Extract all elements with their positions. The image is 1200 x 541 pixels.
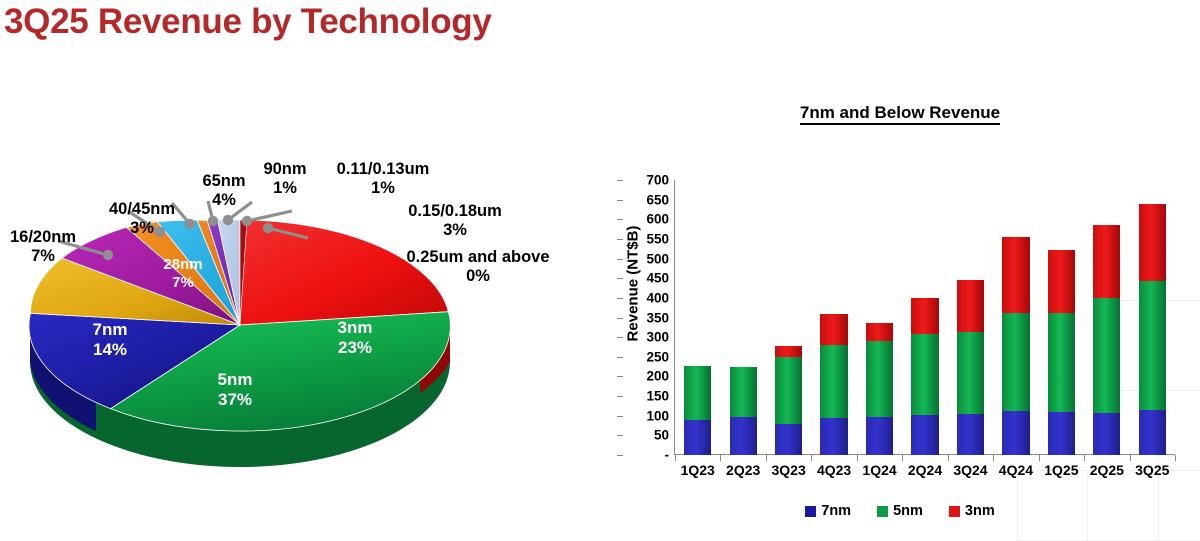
y-tick-mark <box>617 219 623 220</box>
x-tick-mark <box>1175 455 1176 461</box>
y-tick-label: 450 <box>646 271 669 286</box>
bar-segment-3nm <box>866 323 893 341</box>
x-tick-label: 2Q23 <box>726 462 760 478</box>
bar-segment-7nm <box>1048 412 1075 455</box>
y-tick-mark <box>617 278 623 279</box>
bar-segment-5nm <box>1139 281 1166 409</box>
y-tick-mark <box>617 298 623 299</box>
bar-segment-7nm <box>1139 410 1166 455</box>
bar-segment-3nm <box>820 314 847 345</box>
legend-item-3nm[interactable]: 3nm <box>949 503 995 519</box>
legend-item-5nm[interactable]: 5nm <box>877 503 923 519</box>
y-tick-mark <box>617 357 623 358</box>
y-tick-mark <box>617 416 623 417</box>
bar-segment-3nm <box>775 346 802 357</box>
y-tick-mark <box>617 376 623 377</box>
x-tick-mark <box>675 455 676 461</box>
x-tick-label: 2Q25 <box>1090 462 1124 478</box>
x-tick-label: 1Q24 <box>862 462 896 478</box>
x-tick-label: 3Q23 <box>772 462 806 478</box>
y-tick-mark <box>617 259 623 260</box>
bar-chart-plot-area: 7006506005505004504003503002502001501005… <box>675 180 1175 455</box>
legend-label: 5nm <box>893 503 923 519</box>
bar-column-2q25[interactable] <box>1093 225 1120 455</box>
x-tick-mark <box>1084 455 1085 461</box>
bar-column-4q24[interactable] <box>1002 237 1029 455</box>
x-tick-mark <box>766 455 767 461</box>
bar-segment-7nm <box>1002 411 1029 455</box>
bar-segment-5nm <box>1002 313 1029 411</box>
y-tick-label: 500 <box>646 251 669 266</box>
pie-callout-015-018um: 0.15/0.18um 3% <box>380 202 530 240</box>
x-tick-label: 1Q23 <box>681 462 715 478</box>
bar-segment-7nm <box>684 420 711 455</box>
bar-segment-3nm <box>957 280 984 332</box>
y-tick-label: 600 <box>646 212 669 227</box>
bar-segment-5nm <box>1093 298 1120 413</box>
x-tick-label: 4Q23 <box>817 462 851 478</box>
bar-column-1q23[interactable] <box>684 366 711 455</box>
legend-label: 7nm <box>821 503 851 519</box>
x-tick-mark <box>1039 455 1040 461</box>
y-tick-label: - <box>665 448 670 463</box>
pie-label-7nm: 7nm 14% <box>60 320 160 360</box>
y-tick-label: 650 <box>646 192 669 207</box>
y-tick-mark <box>617 396 623 397</box>
bar-segment-3nm <box>1093 225 1120 298</box>
bar-segment-5nm <box>1048 313 1075 412</box>
bar-column-1q25[interactable] <box>1048 250 1075 455</box>
x-tick-mark <box>902 455 903 461</box>
x-tick-label: 3Q24 <box>953 462 987 478</box>
bar-chart-title-text: 7nm and Below Revenue <box>800 103 1000 125</box>
bar-segment-3nm <box>1139 204 1166 282</box>
bar-segment-5nm <box>820 345 847 418</box>
bar-segment-3nm <box>911 298 938 335</box>
y-tick-label: 700 <box>646 173 669 188</box>
x-tick-mark <box>811 455 812 461</box>
bar-segment-3nm <box>1002 237 1029 313</box>
bar-segment-7nm <box>957 414 984 455</box>
x-tick-label: 3Q25 <box>1135 462 1169 478</box>
y-tick-label: 550 <box>646 231 669 246</box>
pie-chart-panel: 3nm 23% 5nm 37% 7nm 14% 28nm 7% 16/20nm … <box>0 140 600 500</box>
y-axis-line <box>674 180 675 455</box>
x-tick-label: 4Q24 <box>999 462 1033 478</box>
y-tick-label: 300 <box>646 330 669 345</box>
bar-segment-7nm <box>911 415 938 455</box>
bar-column-2q24[interactable] <box>911 298 938 455</box>
y-axis-ticks: 7006506005505004504003503002502001501005… <box>623 180 669 455</box>
bar-segment-7nm <box>730 417 757 456</box>
bar-segment-3nm <box>1048 250 1075 313</box>
x-tick-label: 2Q24 <box>908 462 942 478</box>
y-tick-mark <box>617 435 623 436</box>
pie-label-3nm: 3nm 23% <box>300 318 410 358</box>
y-tick-mark <box>617 337 623 338</box>
legend-swatch-5nm <box>877 506 888 517</box>
y-tick-label: 100 <box>646 408 669 423</box>
page-title: 3Q25 Revenue by Technology <box>4 0 492 44</box>
y-tick-label: 400 <box>646 290 669 305</box>
y-tick-mark <box>617 239 623 240</box>
bar-segment-5nm <box>957 332 984 413</box>
pie-callout-025um-and-above: 0.25um and above 0% <box>378 248 578 286</box>
bar-chart-panel: 7nm and Below Revenue Revenue (NT$B) 700… <box>600 95 1200 541</box>
y-tick-label: 250 <box>646 349 669 364</box>
bar-segment-7nm <box>820 418 847 455</box>
x-tick-mark <box>857 455 858 461</box>
x-tick-mark <box>948 455 949 461</box>
bar-segment-5nm <box>911 334 938 415</box>
pie-label-28nm: 28nm 7% <box>138 256 228 292</box>
legend-swatch-3nm <box>949 506 960 517</box>
bar-segment-7nm <box>775 424 802 455</box>
bar-column-3q24[interactable] <box>957 280 984 455</box>
bar-column-2q23[interactable] <box>730 367 757 455</box>
bar-segment-5nm <box>775 357 802 424</box>
y-tick-label: 50 <box>654 428 669 443</box>
bar-segment-7nm <box>866 417 893 456</box>
x-tick-mark <box>993 455 994 461</box>
y-tick-label: 350 <box>646 310 669 325</box>
x-tick-mark <box>720 455 721 461</box>
y-tick-label: 150 <box>646 389 669 404</box>
y-tick-mark <box>617 318 623 319</box>
bar-segment-5nm <box>866 341 893 416</box>
bar-chart-title: 7nm and Below Revenue <box>600 103 1200 123</box>
bar-column-3q23[interactable] <box>775 346 802 455</box>
bar-segment-7nm <box>1093 413 1120 455</box>
y-tick-mark <box>617 180 623 181</box>
x-tick-mark <box>1130 455 1131 461</box>
chart-legend: 7nm5nm3nm <box>600 503 1200 519</box>
y-tick-mark <box>617 455 623 456</box>
bar-segment-5nm <box>730 367 757 417</box>
legend-label: 3nm <box>965 503 995 519</box>
y-tick-label: 200 <box>646 369 669 384</box>
legend-swatch-7nm <box>805 506 816 517</box>
legend-item-7nm[interactable]: 7nm <box>805 503 851 519</box>
bar-segment-5nm <box>684 366 711 421</box>
x-tick-label: 1Q25 <box>1044 462 1078 478</box>
bar-column-3q25[interactable] <box>1139 204 1166 455</box>
bar-column-1q24[interactable] <box>866 323 893 455</box>
y-tick-mark <box>617 200 623 201</box>
pie-callout-011-013um: 0.11/0.13um 1% <box>308 160 458 198</box>
bar-column-4q23[interactable] <box>820 314 847 455</box>
pie-label-5nm: 5nm 37% <box>180 370 290 410</box>
